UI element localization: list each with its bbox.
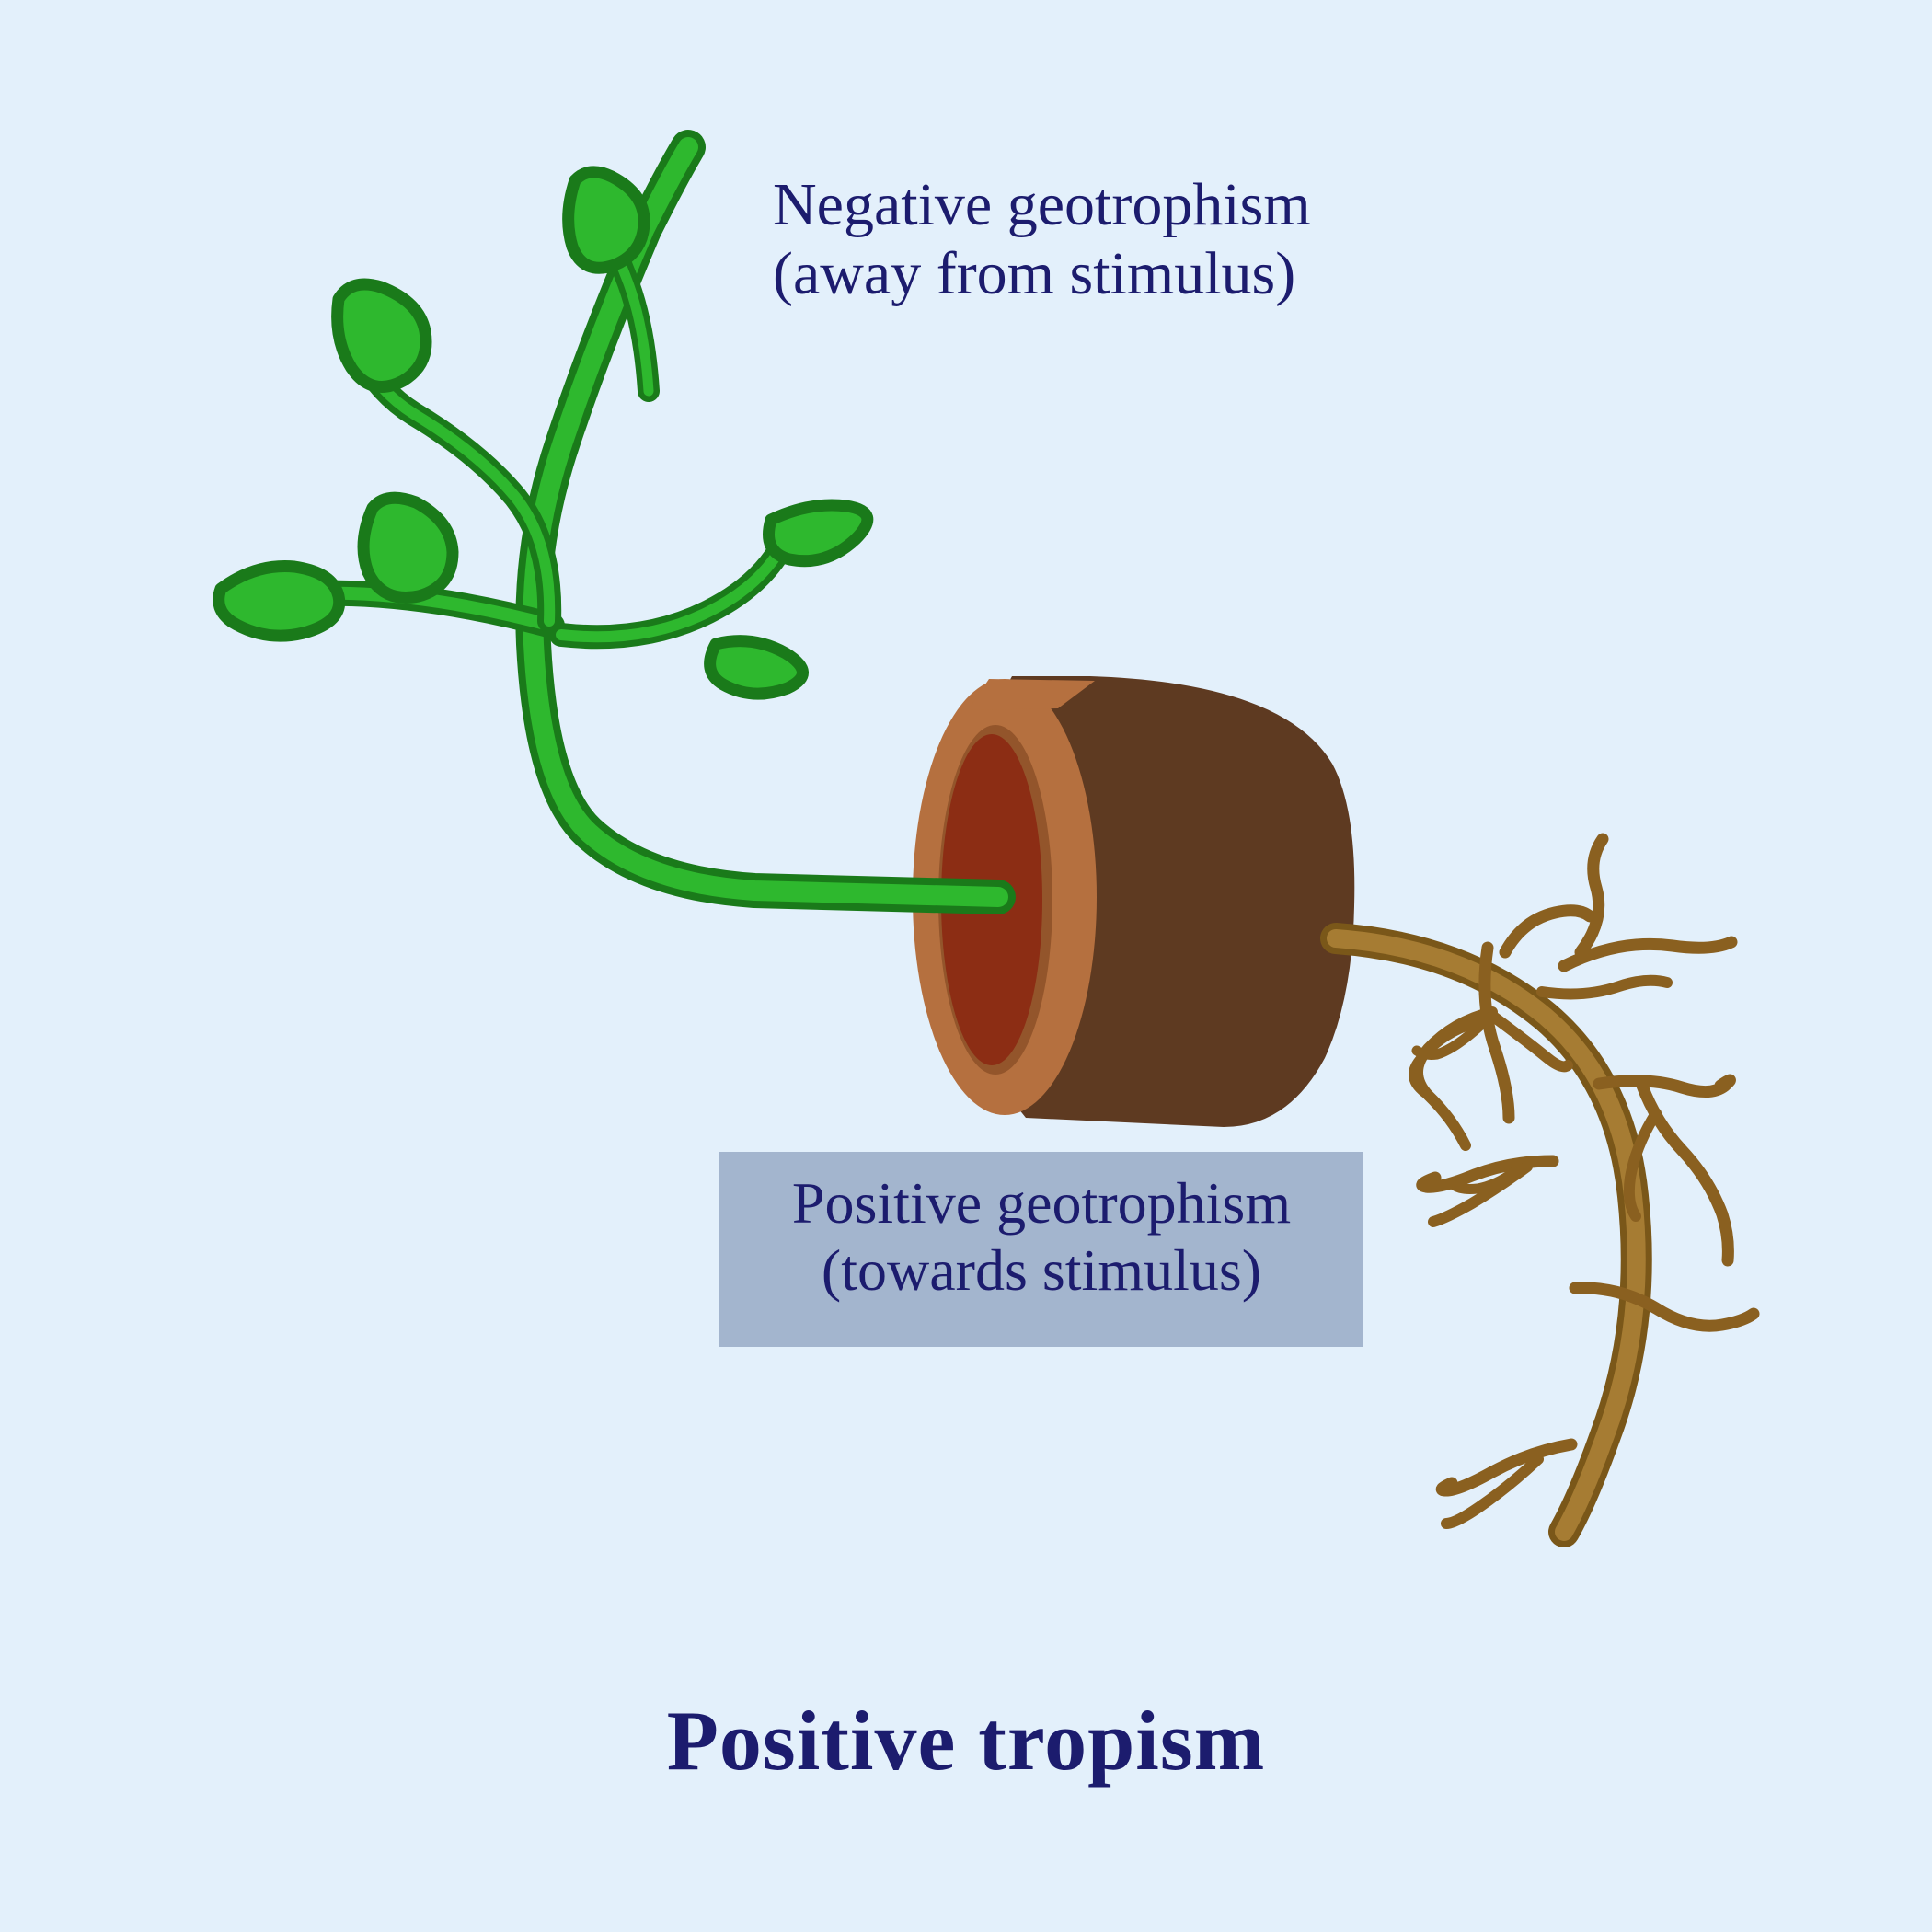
root-branch <box>1581 839 1603 952</box>
negative-label-line1: Negative geotrophism <box>773 171 1311 238</box>
root-branch <box>1575 1288 1754 1326</box>
root-branch <box>1505 911 1590 952</box>
leaf <box>363 498 453 597</box>
leaf <box>219 567 339 637</box>
leaf <box>710 641 803 694</box>
positive-label-line2: (towards stimulus) <box>719 1237 1363 1305</box>
diagram-canvas: Negative geotrophism(away from stimulus)… <box>0 0 1932 1932</box>
page-title: Positive tropism <box>0 1693 1932 1789</box>
leaf <box>569 172 644 268</box>
leaf <box>769 505 868 561</box>
positive-label-line1: Positive geotrophism <box>792 1170 1291 1236</box>
root-branch <box>1542 981 1667 995</box>
leaf <box>338 284 426 387</box>
positive-geotropism-label: Positive geotrophism(towards stimulus) <box>719 1170 1363 1305</box>
negative-label-line2: (away from stimulus) <box>773 239 1454 308</box>
plant-root <box>1336 839 1754 1532</box>
stem-branch-right-core <box>561 543 784 637</box>
negative-geotropism-label: Negative geotrophism(away from stimulus) <box>773 170 1454 308</box>
